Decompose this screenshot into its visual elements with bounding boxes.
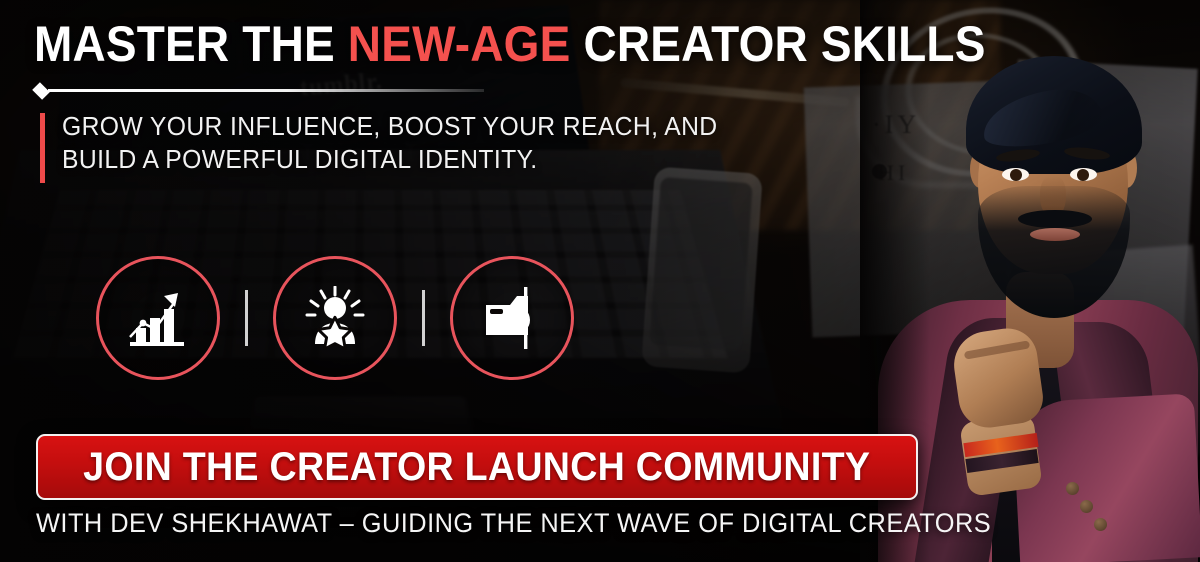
subheading-accent-bar bbox=[40, 113, 45, 183]
divider-diamond-icon bbox=[32, 82, 50, 100]
feature-circle-influence[interactable] bbox=[273, 256, 397, 380]
portrait-sleeve-button bbox=[1066, 482, 1079, 495]
icon-separator bbox=[422, 290, 425, 346]
join-community-button[interactable]: JOIN THE CREATOR LAUNCH COMMUNITY bbox=[36, 434, 918, 500]
portrait-sleeve-button bbox=[1094, 518, 1107, 531]
headline-before: MASTER THE bbox=[34, 16, 348, 72]
footer-tagline: WITH DEV SHEKHAWAT – GUIDING THE NEXT WA… bbox=[36, 508, 991, 539]
divider-line bbox=[48, 89, 484, 92]
headline-after: CREATOR SKILLS bbox=[571, 16, 986, 72]
portrait-mustache bbox=[1018, 210, 1092, 228]
subheading-line-1: GROW YOUR INFLUENCE, BOOST YOUR REACH, A… bbox=[62, 110, 763, 143]
portrait-lips bbox=[1030, 228, 1080, 241]
portrait-sleeve-button bbox=[1080, 500, 1093, 513]
feature-circle-growth[interactable] bbox=[96, 256, 220, 380]
headline-divider bbox=[34, 84, 484, 98]
headline-accent: NEW-AGE bbox=[348, 16, 571, 72]
feature-icon-row bbox=[96, 256, 574, 380]
subheading-block: GROW YOUR INFLUENCE, BOOST YOUR REACH, A… bbox=[40, 110, 800, 177]
cta-label: JOIN THE CREATOR LAUNCH COMMUNITY bbox=[83, 445, 870, 490]
subheading-line-2: BUILD A POWERFUL DIGITAL IDENTITY. bbox=[62, 143, 763, 176]
portrait-fist bbox=[950, 325, 1047, 432]
icon-separator bbox=[245, 290, 248, 346]
portrait-pupil-left bbox=[1010, 169, 1022, 181]
promo-banner: tumblr. ·IY HI T bbox=[0, 0, 1200, 562]
growth-chart-icon bbox=[126, 287, 190, 349]
page-title: MASTER THE NEW-AGE CREATOR SKILLS bbox=[34, 18, 986, 70]
camera-icon bbox=[480, 287, 544, 349]
portrait-pupil-right bbox=[1077, 169, 1089, 181]
feature-circle-content[interactable] bbox=[450, 256, 574, 380]
influencer-star-icon bbox=[302, 286, 368, 350]
subheading-text: GROW YOUR INFLUENCE, BOOST YOUR REACH, A… bbox=[62, 110, 763, 177]
